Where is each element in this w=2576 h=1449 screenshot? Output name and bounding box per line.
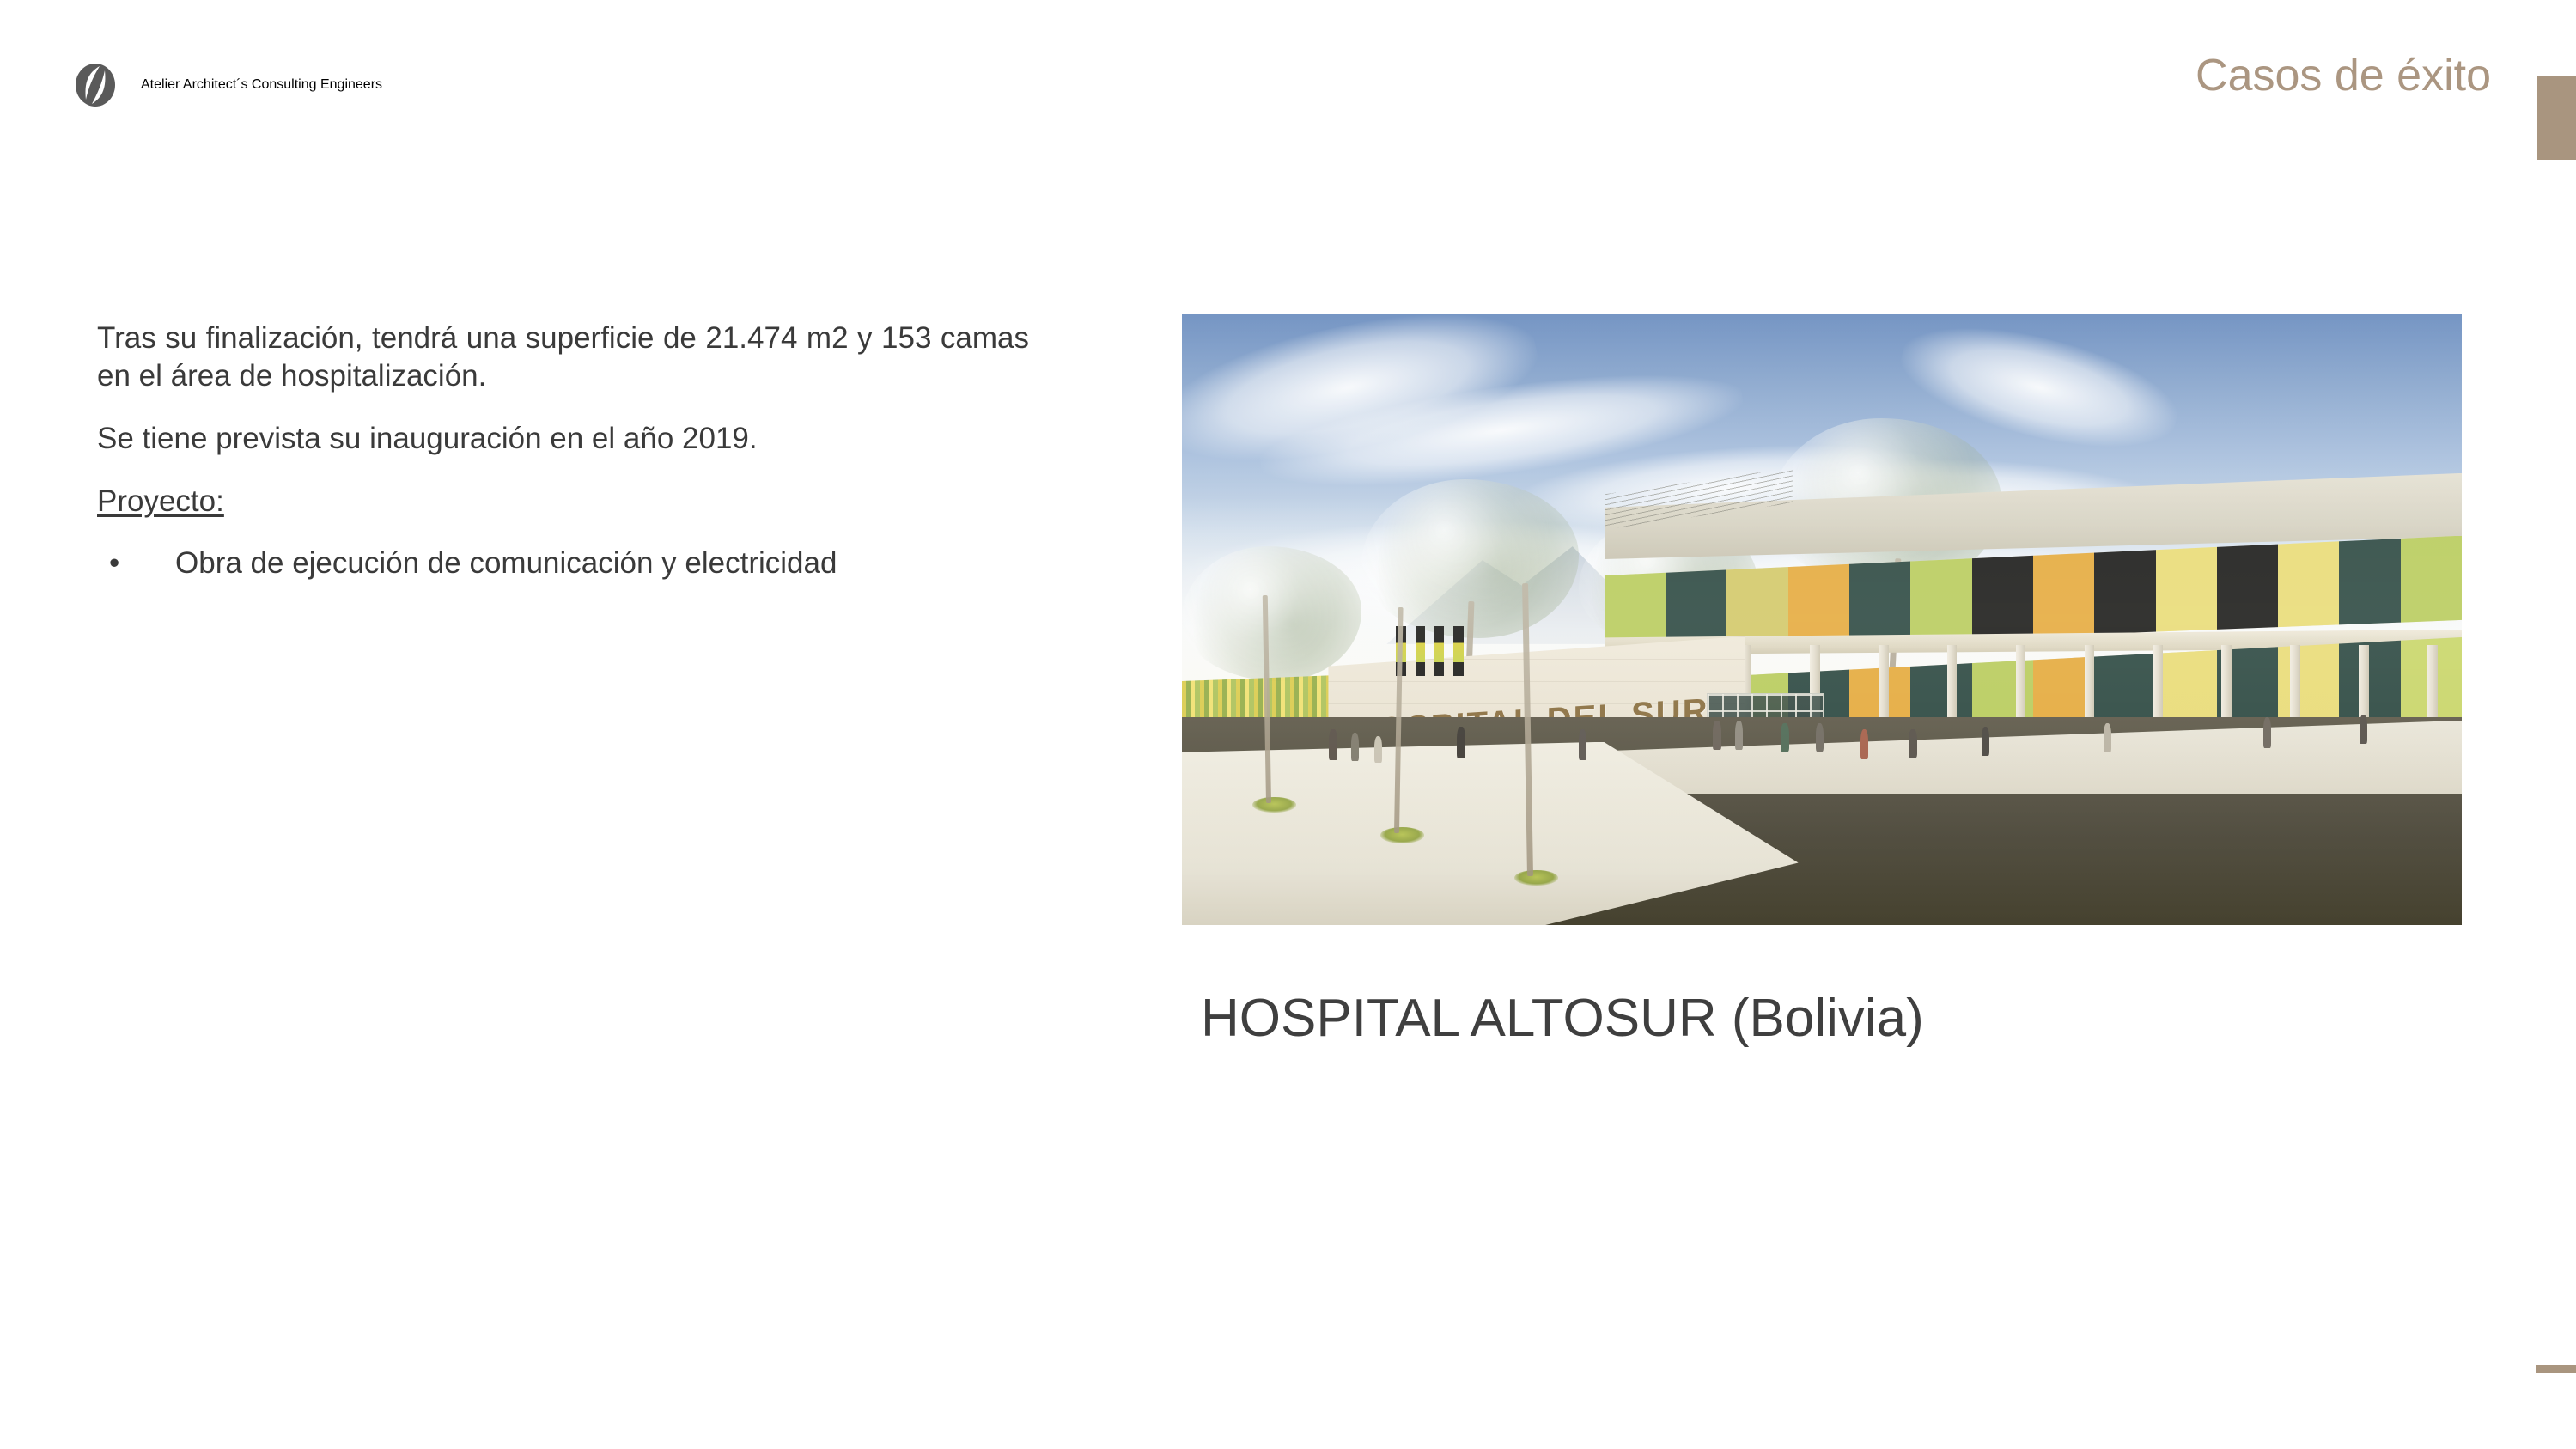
bullet-marker-icon: •: [109, 545, 119, 582]
list-item-label: Obra de ejecución de comunicación y elec…: [175, 546, 837, 580]
section-label: Casos de éxito: [2195, 53, 2491, 98]
pedestrian: [1982, 727, 1989, 756]
pedestrian: [1579, 729, 1586, 760]
atelier-circle-slash-logo-icon: [74, 62, 117, 108]
pedestrian: [1860, 729, 1868, 758]
pedestrian: [1457, 727, 1465, 758]
section-heading-label: Proyecto:: [97, 484, 224, 518]
brand-lockup: Atelier Architect´s Consulting Engineers: [74, 62, 382, 108]
pedestrian: [1374, 736, 1382, 763]
pedestrian: [1781, 723, 1788, 752]
pedestrian: [2263, 717, 2271, 748]
pedestrian: [1909, 729, 1916, 758]
project-caption: HOSPITAL ALTOSUR (Bolivia): [1201, 989, 1924, 1048]
pedestrian: [2360, 715, 2367, 744]
pedestrian: [1329, 729, 1337, 760]
tree-planter: [1380, 827, 1424, 843]
facade-slot: [1434, 626, 1444, 676]
bullet-list: • Obra de ejecución de comunicación y el…: [97, 545, 1029, 582]
project-figure: HOSPITAL DEL SUR: [1182, 314, 2462, 925]
list-item: • Obra de ejecución de comunicación y el…: [97, 545, 1029, 582]
tree-planter: [1252, 797, 1296, 813]
body-paragraph-1: Tras su finalización, tendrá una superfi…: [97, 320, 1029, 395]
pedestrian: [1351, 733, 1359, 761]
slide-header: Atelier Architect´s Consulting Engineers…: [0, 0, 2576, 172]
pedestrian: [1735, 721, 1743, 750]
footer-accent-bar: [2536, 1365, 2576, 1373]
facade-slot: [1453, 626, 1463, 676]
body-paragraph-2: Se tiene prevista su inauguración en el …: [97, 420, 1029, 458]
section-heading: Proyecto:: [97, 483, 1029, 521]
pedestrian: [2104, 723, 2111, 752]
brand-title: Atelier Architect´s Consulting Engineers: [141, 77, 382, 93]
pedestrian: [1713, 721, 1720, 750]
project-render-image: HOSPITAL DEL SUR: [1182, 314, 2462, 925]
facade-slot-group: [1396, 626, 1464, 676]
header-accent-bar: [2537, 76, 2576, 160]
content-text-column: Tras su finalización, tendrá una superfi…: [97, 320, 1029, 582]
pedestrian: [1816, 723, 1824, 752]
facade-slot: [1416, 626, 1425, 676]
